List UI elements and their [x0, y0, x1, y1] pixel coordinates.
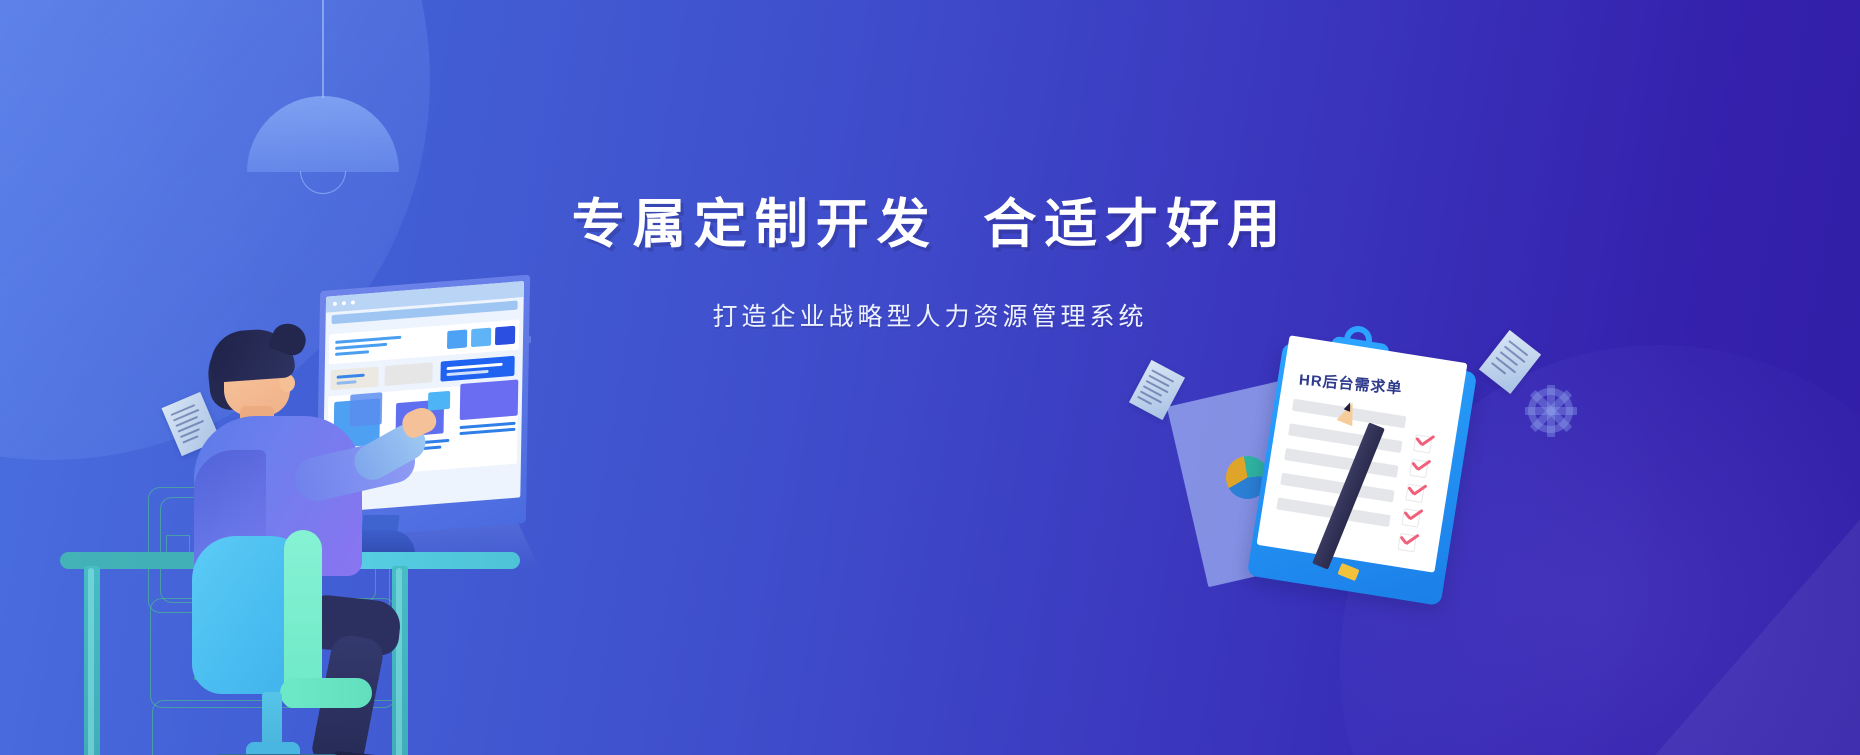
clipboard-illustration: HR后台需求单 [1178, 328, 1508, 638]
shoe [327, 750, 403, 755]
hero-banner: 专属定制开发 合适才好用 打造企业战略型人力资源管理系统 [0, 0, 1860, 755]
desk-leg [84, 566, 100, 755]
person-illustration [176, 330, 436, 755]
clipboard-title: HR后台需求单 [1298, 369, 1449, 403]
lamp-wire-icon [322, 0, 324, 98]
page-title: 专属定制开发 合适才好用 [0, 182, 1860, 258]
chair-arm [280, 678, 372, 708]
chair-post [262, 692, 282, 748]
gear-icon [1528, 388, 1573, 433]
